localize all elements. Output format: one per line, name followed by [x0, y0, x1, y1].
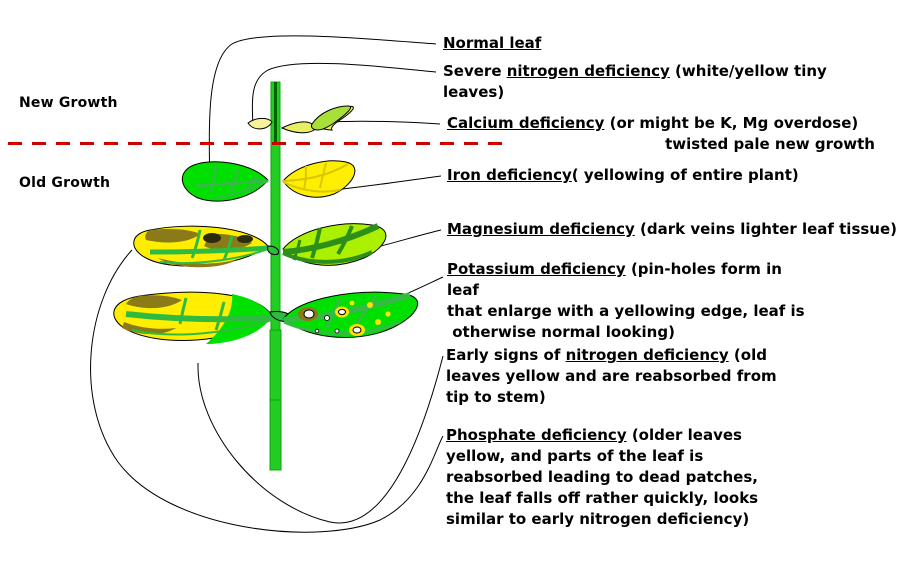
note-calcium-second-line: twisted pale new growth: [447, 134, 917, 155]
plant-stem: [270, 82, 281, 470]
note-normal-leaf-term: Normal leaf: [443, 34, 541, 52]
note-severe-nitrogen-lead: Severe: [443, 62, 507, 80]
note-magnesium-term: Magnesium deficiency: [447, 220, 635, 238]
leader-magnesium: [381, 230, 441, 246]
note-normal-leaf: Normal leaf: [443, 33, 541, 54]
leaf-tiny-new-left: [248, 118, 272, 129]
leader-lines: [91, 36, 443, 532]
note-phosphate-term: Phosphate deficiency: [446, 426, 627, 444]
note-severe-nitrogen: Severe nitrogen deficiency (white/yellow…: [443, 61, 873, 103]
label-new-growth: New Growth: [19, 95, 118, 111]
note-early-nitrogen-term: nitrogen deficiency: [566, 346, 729, 364]
leaf-normal-green: [182, 162, 268, 201]
note-potassium: Potassium deficiency (pin-holes form in …: [447, 259, 807, 343]
leaf-phosphate-deficiency: [134, 226, 279, 267]
note-potassium-term: Potassium deficiency: [447, 260, 626, 278]
leader-normal-leaf: [209, 36, 436, 182]
note-phosphate: Phosphate deficiency (older leaves yello…: [446, 425, 806, 530]
note-magnesium-rest: (dark veins lighter leaf tissue): [635, 220, 897, 238]
leader-early-nitrogen: [198, 356, 443, 523]
note-calcium-term: Calcium deficiency: [447, 114, 604, 132]
note-calcium-rest: (or might be K, Mg overdose): [604, 114, 858, 132]
note-iron-term: Iron deficiency: [447, 166, 572, 184]
leaf-twisted-new-growth: [282, 106, 353, 133]
note-iron: Iron deficiency( yellowing of entire pla…: [447, 165, 799, 186]
diagram-canvas: New Growth Old Growth Normal leaf Severe…: [0, 0, 922, 561]
leaf-early-nitrogen-deficiency: [114, 292, 292, 344]
label-old-growth: Old Growth: [19, 175, 110, 191]
note-early-nitrogen: Early signs of nitrogen deficiency (old …: [446, 345, 806, 408]
leader-calcium: [330, 121, 440, 124]
note-calcium: Calcium deficiency (or might be K, Mg ov…: [447, 113, 917, 155]
note-magnesium: Magnesium deficiency (dark veins lighter…: [447, 219, 897, 240]
leaf-iron-deficiency: [283, 161, 355, 197]
leaf-potassium-deficiency: [284, 292, 418, 337]
leaf-magnesium-deficiency: [283, 224, 386, 266]
note-severe-nitrogen-term: nitrogen deficiency: [507, 62, 670, 80]
note-iron-rest: ( yellowing of entire plant): [572, 166, 799, 184]
note-early-nitrogen-lead: Early signs of: [446, 346, 566, 364]
